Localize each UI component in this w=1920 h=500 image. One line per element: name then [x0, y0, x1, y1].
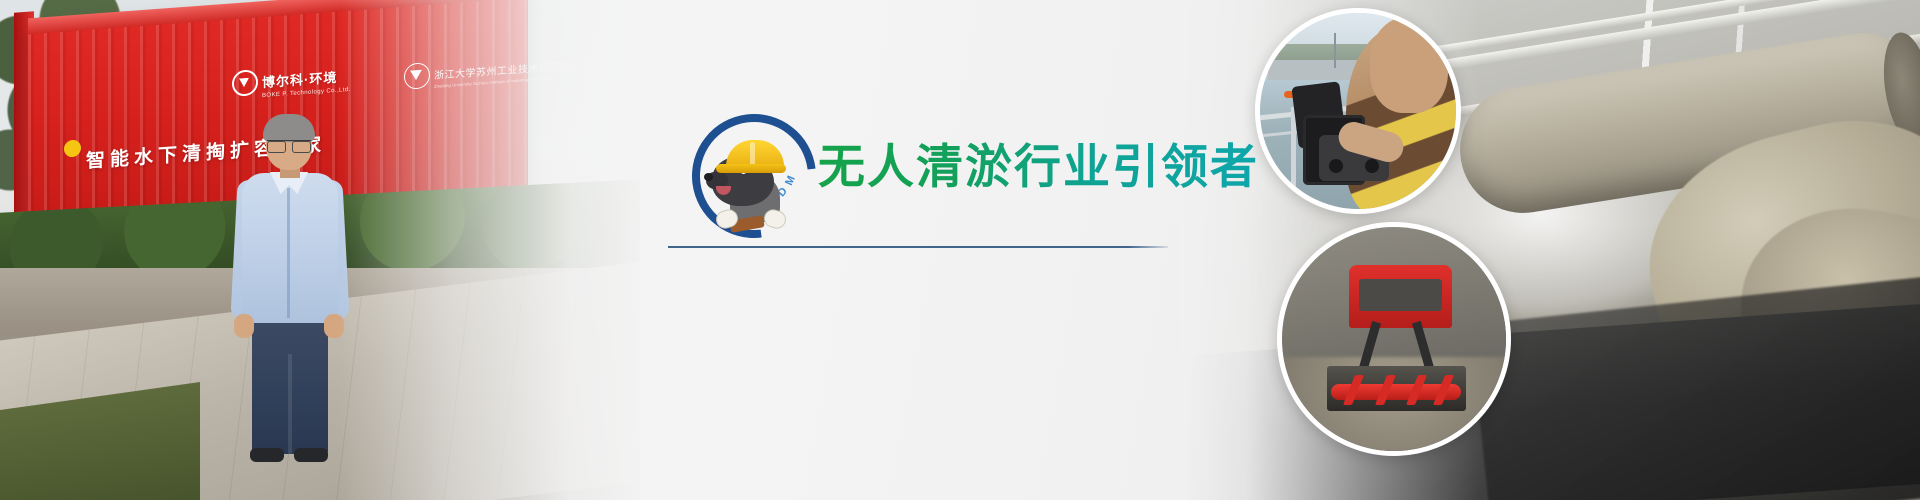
brand-cn-label: 博尔科·环境 [262, 70, 337, 90]
person-shirt-placket [287, 188, 290, 318]
hard-hat-ridge [750, 142, 755, 166]
person-standing [236, 118, 344, 448]
left-container-photo: 博尔科·环境 BOKE P. Technology Co.,Ltd. 浙江大学苏… [0, 0, 640, 500]
person-trouser-seam [288, 354, 292, 454]
operator-remote-control-photo [1255, 8, 1461, 214]
person-hair [263, 114, 315, 142]
headline-divider [668, 246, 1168, 248]
mole-mascot-icon [710, 136, 788, 222]
operator-head [1370, 17, 1448, 113]
glasses-icon [267, 140, 311, 151]
mud-mole-logo: MUD MOLE [690, 112, 810, 232]
hard-hat-brim [716, 164, 786, 173]
person-left-hand [234, 314, 254, 338]
robot-chassis [1349, 265, 1452, 328]
hero-banner: 博尔科·环境 BOKE P. Technology Co.,Ltd. 浙江大学苏… [0, 0, 1920, 500]
person-left-shoe [250, 448, 284, 462]
banner-headline: 无人清淤行业引领者 [818, 128, 1259, 197]
mole-nose [704, 173, 713, 181]
person-shirt [242, 173, 338, 323]
left-photo-fade [340, 0, 640, 500]
pylon-tower [1334, 33, 1336, 68]
person-right-shoe [294, 448, 328, 462]
dredging-robot-auger-photo [1277, 222, 1511, 456]
center-branding-block: MUD MOLE 无人清淤行业引领者 [660, 0, 1280, 500]
